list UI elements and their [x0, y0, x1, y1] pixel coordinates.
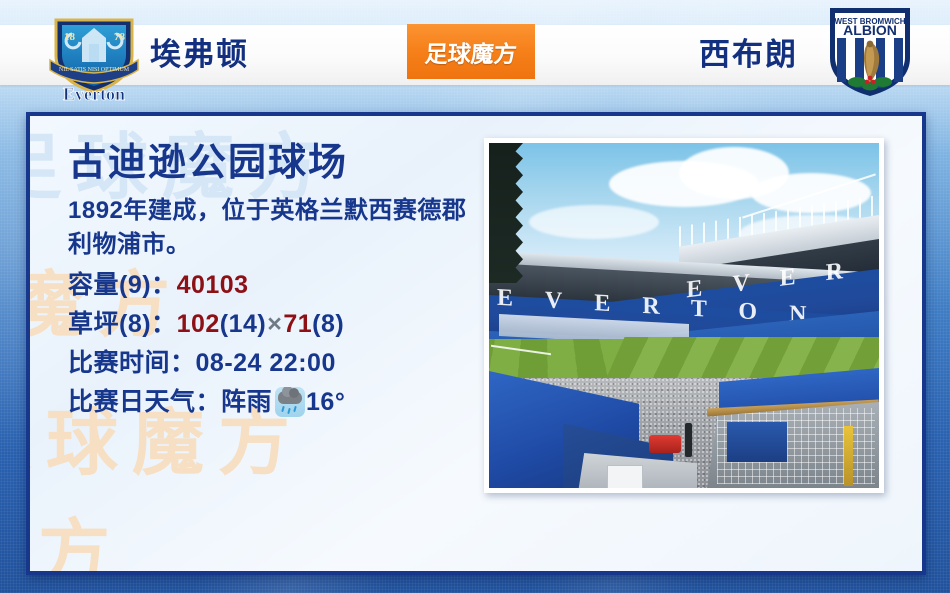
weather-row: 比赛日天气：阵雨16°	[68, 383, 488, 422]
pitch-length-rating: (14)	[220, 310, 266, 338]
screenshot-root: 18 78 NIL SATIS NISI OPTIMUM Everton 埃弗顿…	[0, 0, 950, 593]
svg-text:78: 78	[114, 31, 126, 43]
match-time-row: 比赛时间：08-24 22:00	[68, 344, 488, 383]
stadium-photo-frame: EVER EVERTON	[484, 138, 884, 493]
capacity-row: 容量(9)：40103	[68, 266, 488, 305]
stadium-description: 1892年建成，位于英格兰默西赛德郡利物浦市。	[68, 194, 478, 262]
svg-text:NIL SATIS NISI OPTIMUM: NIL SATIS NISI OPTIMUM	[59, 67, 130, 73]
brand-logo-label: 足球魔方	[424, 35, 518, 69]
away-team-name: 西布朗	[699, 25, 798, 85]
pitch-label: 草坪(8)：	[68, 310, 177, 338]
weather-label: 比赛日天气：	[68, 388, 221, 416]
pitch-times-symbol: ×	[266, 310, 283, 338]
capacity-label: 容量(9)：	[68, 271, 177, 299]
rain-cloud-icon	[275, 387, 305, 417]
match-time-label: 比赛时间：	[68, 349, 196, 377]
brand-logo-box[interactable]: 足球魔方	[407, 24, 535, 79]
stadium-info-block: 古迪逊公园球场 1892年建成，位于英格兰默西赛德郡利物浦市。 容量(9)：40…	[68, 144, 488, 422]
pitch-row: 草坪(8)：102(14)×71(8)	[68, 305, 488, 344]
stadium-info-panel: 足球魔方 足球魔方 足球魔方 足球魔方 古迪逊公园球场 1892年建成，位于英格…	[26, 112, 926, 575]
everton-crest-icon: 18 78 NIL SATIS NISI OPTIMUM Everton	[42, 4, 146, 104]
svg-text:Everton: Everton	[63, 84, 125, 104]
match-time-value: 08-24 22:00	[196, 349, 336, 377]
home-team-name: 埃弗顿	[150, 25, 249, 85]
pitch-width-rating: (8)	[312, 310, 344, 338]
capacity-value: 40103	[177, 271, 249, 299]
pitch-width: 71	[283, 310, 312, 338]
wba-name-text: ALBION	[843, 22, 897, 38]
stadium-title: 古迪逊公园球场	[68, 144, 488, 184]
stadium-photo: EVER EVERTON	[489, 143, 879, 488]
weather-temperature: 16°	[306, 388, 345, 416]
pitch-length: 102	[177, 310, 220, 338]
weather-condition: 阵雨	[221, 388, 272, 416]
svg-text:18: 18	[64, 31, 76, 43]
match-header: 18 78 NIL SATIS NISI OPTIMUM Everton 埃弗顿…	[0, 0, 950, 110]
west-bromwich-albion-crest-icon: WEST BROMWICH ALBION	[824, 2, 916, 100]
